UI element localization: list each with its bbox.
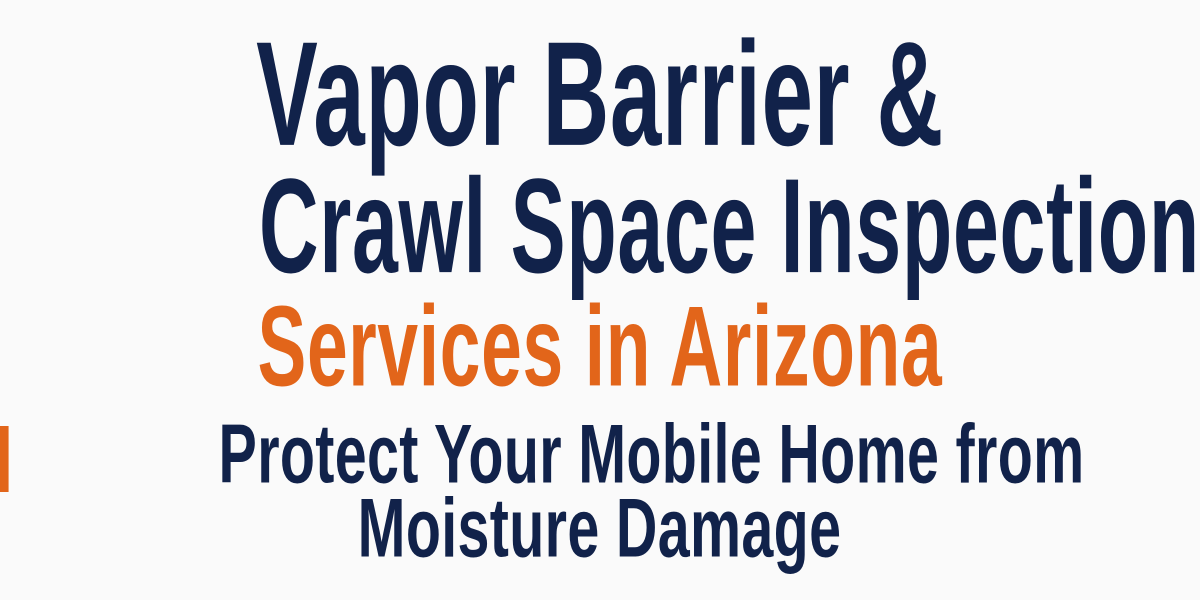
subheadline-line-2-text: Moisture Damage bbox=[358, 487, 842, 571]
headline-line-2-text: Crawl Space Inspection bbox=[259, 160, 1200, 294]
headline-line-1: Vapor Barrier & bbox=[0, 24, 1200, 164]
divider-bar-left-icon bbox=[0, 426, 9, 492]
headline-line-3-text: Services in Arizona bbox=[258, 290, 943, 404]
subheadline-line-2: Moisture Damage bbox=[0, 488, 1200, 570]
headline-line-1-text: Vapor Barrier & bbox=[256, 20, 944, 168]
headline-line-3-accent: Services in Arizona bbox=[0, 292, 1200, 402]
headline-line-2: Crawl Space Inspection bbox=[0, 163, 1200, 291]
promo-banner: Vapor Barrier & Crawl Space Inspection S… bbox=[0, 0, 1200, 600]
